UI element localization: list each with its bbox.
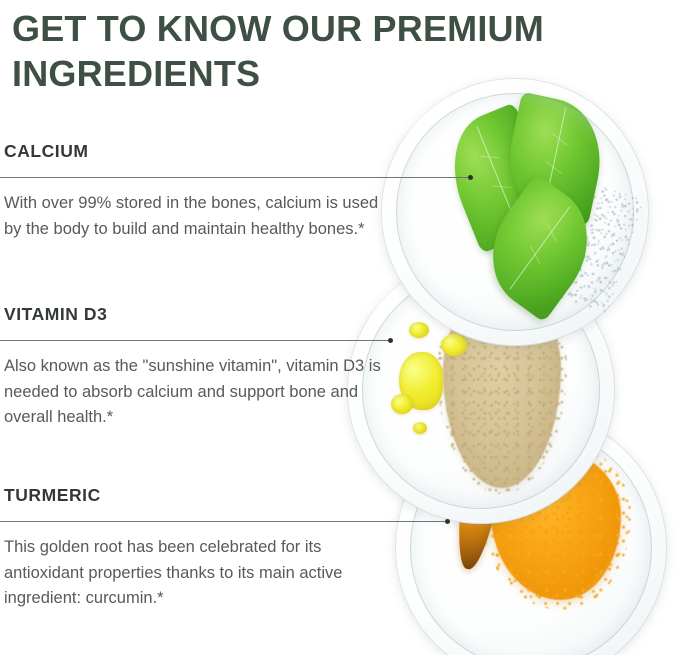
ingredient-heading-calcium: CALCIUM	[0, 140, 520, 162]
ingredient-description-turmeric: This golden root has been celebrated for…	[0, 535, 390, 612]
callout-endpoint-dot-icon	[468, 175, 473, 180]
calcium-crystals-icon	[540, 178, 644, 314]
callout-endpoint-dot-icon	[388, 338, 393, 343]
ingredient-description-calcium: With over 99% stored in the bones, calci…	[0, 191, 390, 242]
page-title: GET TO KNOW OUR PREMIUM INGREDIENTS	[12, 6, 652, 96]
callout-connector-turmeric	[0, 516, 520, 528]
callout-rule-line	[0, 521, 447, 522]
ingredient-section-vitamin-d3: VITAMIN D3 Also known as the "sunshine v…	[0, 303, 520, 431]
callout-connector-vitamin-d3	[0, 335, 520, 347]
ingredients-infographic: GET TO KNOW OUR PREMIUM INGREDIENTS CALC…	[0, 0, 679, 655]
ingredient-section-turmeric: TURMERIC This golden root has been celeb…	[0, 484, 520, 612]
callout-rule-line	[0, 177, 470, 178]
ingredient-section-calcium: CALCIUM With over 99% stored in the bone…	[0, 140, 520, 242]
callout-rule-line	[0, 340, 390, 341]
callout-endpoint-dot-icon	[445, 519, 450, 524]
ingredient-heading-vitamin-d3: VITAMIN D3	[0, 303, 520, 325]
ingredient-description-vitamin-d3: Also known as the "sunshine vitamin", vi…	[0, 354, 390, 431]
leaf-vein-icon	[544, 108, 567, 210]
ingredient-heading-turmeric: TURMERIC	[0, 484, 520, 506]
callout-connector-calcium	[0, 172, 520, 184]
